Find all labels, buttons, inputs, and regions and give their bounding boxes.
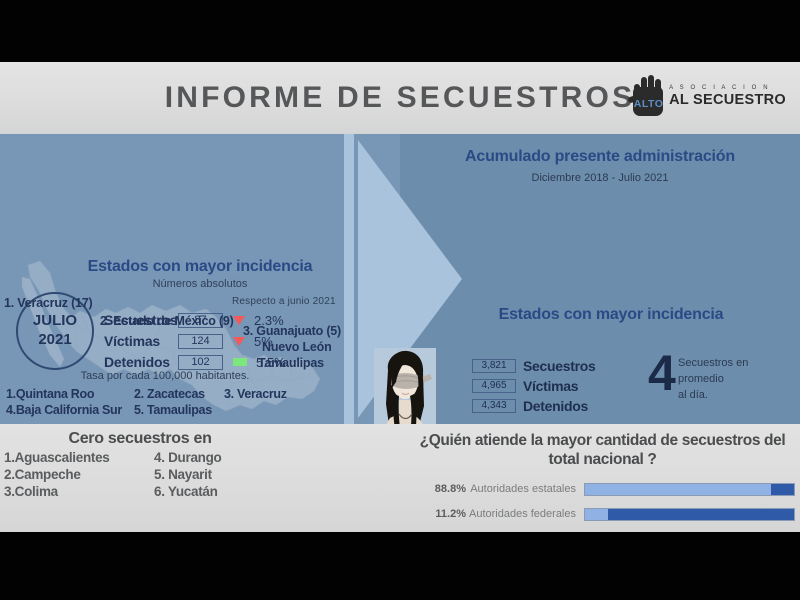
infographic-root: INFORME DE SECUESTROS ALTO A S O C I A C… — [0, 0, 800, 600]
right-incidence-title: Estados con mayor incidencia — [466, 306, 756, 324]
rate-item: 5. Tamaulipas — [134, 403, 224, 417]
authority-question: ¿Quién atiende la mayor cantidad de secu… — [410, 431, 795, 470]
stop-hand-icon: ALTO — [631, 74, 665, 118]
total-label: Detenidos — [523, 398, 588, 414]
zero-kidnappings-list: 1.Aguascalientes 4. Durango 2.Campeche 5… — [4, 450, 284, 499]
total-value: 4,343 — [472, 399, 516, 413]
rate-list: 1.Quintana Roo 2. Zacatecas 3. Veracruz … — [6, 387, 336, 419]
zero-state-item: 5. Nayarit — [154, 467, 284, 482]
bar-label: Autoridades estatales — [466, 483, 584, 495]
total-label: Secuestros — [523, 358, 595, 374]
total-row: 4,965 Víctimas — [472, 376, 595, 395]
stat-label: Detenidos — [104, 354, 178, 370]
rate-item: 3. Veracruz — [224, 387, 287, 401]
total-row: 4,343 Detenidos — [472, 396, 595, 415]
stat-label: Víctimas — [104, 333, 178, 349]
total-value: 3,821 — [472, 359, 516, 373]
header-bar: INFORME DE SECUESTROS ALTO A S O C I A C… — [0, 62, 800, 134]
total-row: 3,821 Secuestros — [472, 356, 595, 375]
stat-value: 124 — [178, 334, 223, 349]
zero-state-item: 2.Campeche — [4, 467, 154, 482]
rate-row: 1.Quintana Roo 2. Zacatecas 3. Veracruz — [6, 387, 336, 401]
bar-fill — [585, 509, 608, 520]
logo-alto-word: ALTO — [633, 98, 664, 110]
bar-percent: 88.8% — [410, 483, 466, 495]
accumulated-totals: 3,821 Secuestros 4,965 Víctimas 4,343 De… — [472, 356, 595, 416]
main-panel: JULIO 2021 Respecto a junio 2021 Secuest… — [0, 134, 800, 424]
bar-track — [584, 483, 795, 496]
trend-flat-icon — [233, 358, 247, 366]
zero-state-item: 1.Aguascalientes — [4, 450, 154, 465]
zero-state-item: 4. Durango — [154, 450, 284, 465]
daily-average-line3: al día. — [678, 388, 748, 404]
letterbox-top — [0, 0, 800, 62]
authority-bar-chart: 88.8% Autoridades estatales 11.2% Autori… — [410, 480, 795, 530]
period-month: JULIO — [33, 312, 77, 331]
bar-label: Autoridades federales — [466, 508, 584, 520]
zero-kidnappings-title: Cero secuestros en — [0, 430, 280, 448]
bar-track — [584, 508, 795, 521]
rate-row: 4.Baja California Sur 5. Tamaulipas — [6, 403, 336, 417]
left-incidence-title: Estados con mayor incidencia — [0, 258, 400, 276]
stat-value: 102 — [178, 355, 223, 370]
rate-item: 2. Zacatecas — [134, 387, 224, 401]
incidence-pin-1: 1. Veracruz (17) — [4, 296, 93, 310]
daily-average-line2: promedio — [678, 372, 748, 388]
bar-fill — [585, 484, 771, 495]
incidence-pin-5: Tamaulipas — [258, 356, 324, 370]
blindfolded-woman-illustration — [374, 348, 436, 424]
bar-row: 11.2% Autoridades federales — [410, 505, 795, 523]
incidence-pin-4: Nuevo León — [262, 340, 332, 354]
rate-title: Tasa por cada 100,000 habitantes. — [0, 370, 330, 382]
letterbox-bottom — [0, 532, 800, 600]
zero-state-item: 3.Colima — [4, 484, 154, 499]
logo-asociacion-text: A S O C I A C I O N — [669, 85, 786, 91]
period-year: 2021 — [38, 331, 71, 350]
daily-average-text: Secuestros en promedio al día. — [678, 356, 748, 404]
rate-item: 4.Baja California Sur — [6, 403, 134, 417]
bar-percent: 11.2% — [410, 508, 466, 520]
rate-item: 1.Quintana Roo — [6, 387, 134, 401]
comparison-note: Respecto a junio 2021 — [232, 296, 336, 307]
logo-main-text: AL SECUESTRO — [669, 93, 786, 108]
total-label: Víctimas — [523, 378, 578, 394]
left-incidence-subtitle: Números absolutos — [0, 278, 400, 290]
accumulated-title: Acumulado presente administración — [400, 148, 800, 166]
daily-average-line1: Secuestros en — [678, 356, 748, 372]
bar-row: 88.8% Autoridades estatales — [410, 480, 795, 498]
total-value: 4,965 — [472, 379, 516, 393]
incidence-pin-3: 3. Guanajuato (5) — [243, 324, 341, 338]
organization-logo: ALTO A S O C I A C I O N AL SECUESTRO — [631, 74, 786, 118]
accumulated-subtitle: Diciembre 2018 - Julio 2021 — [400, 172, 800, 184]
incidence-pin-2: 2. Estado de México (9) — [100, 314, 234, 328]
daily-average-number: 4 — [648, 350, 676, 398]
zero-state-item: 6. Yucatán — [154, 484, 284, 499]
